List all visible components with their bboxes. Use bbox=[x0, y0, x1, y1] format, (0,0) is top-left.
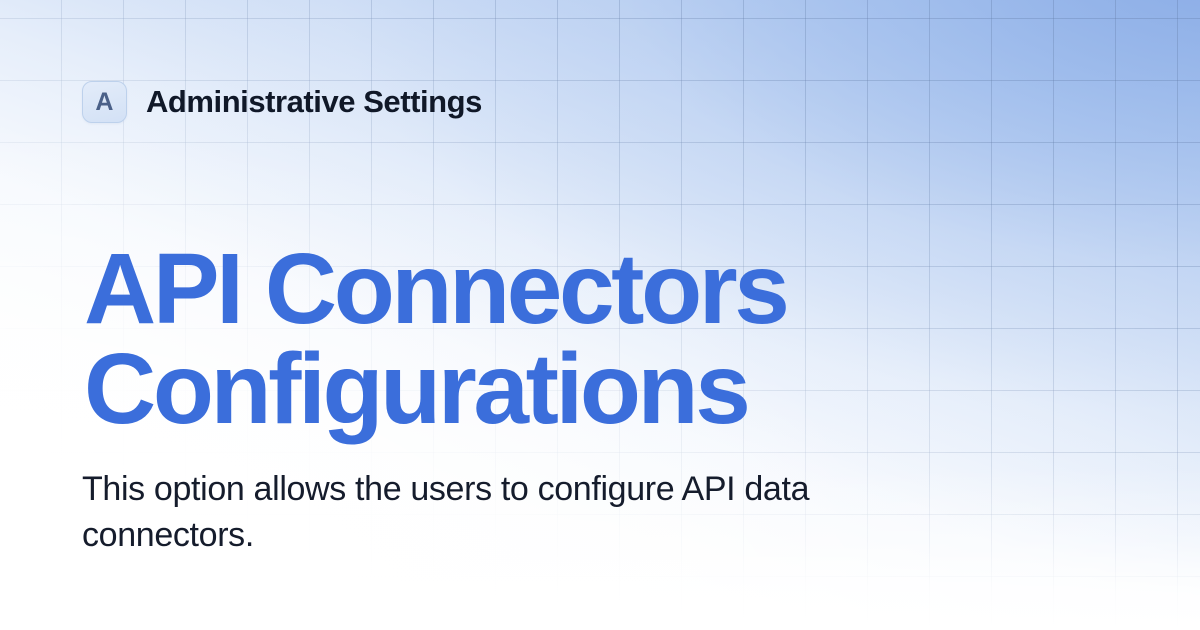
letter-a-badge-icon: A bbox=[82, 81, 127, 123]
page-description: This option allows the users to configur… bbox=[82, 466, 872, 558]
page-title: API Connectors Configurations bbox=[84, 239, 944, 439]
hero-banner: A Administrative Settings API Connectors… bbox=[0, 0, 1200, 630]
badge-letter-label: A bbox=[95, 90, 113, 115]
section-title: Administrative Settings bbox=[146, 84, 482, 120]
breadcrumb: A Administrative Settings bbox=[82, 81, 482, 123]
content-area: A Administrative Settings API Connectors… bbox=[0, 0, 1200, 630]
